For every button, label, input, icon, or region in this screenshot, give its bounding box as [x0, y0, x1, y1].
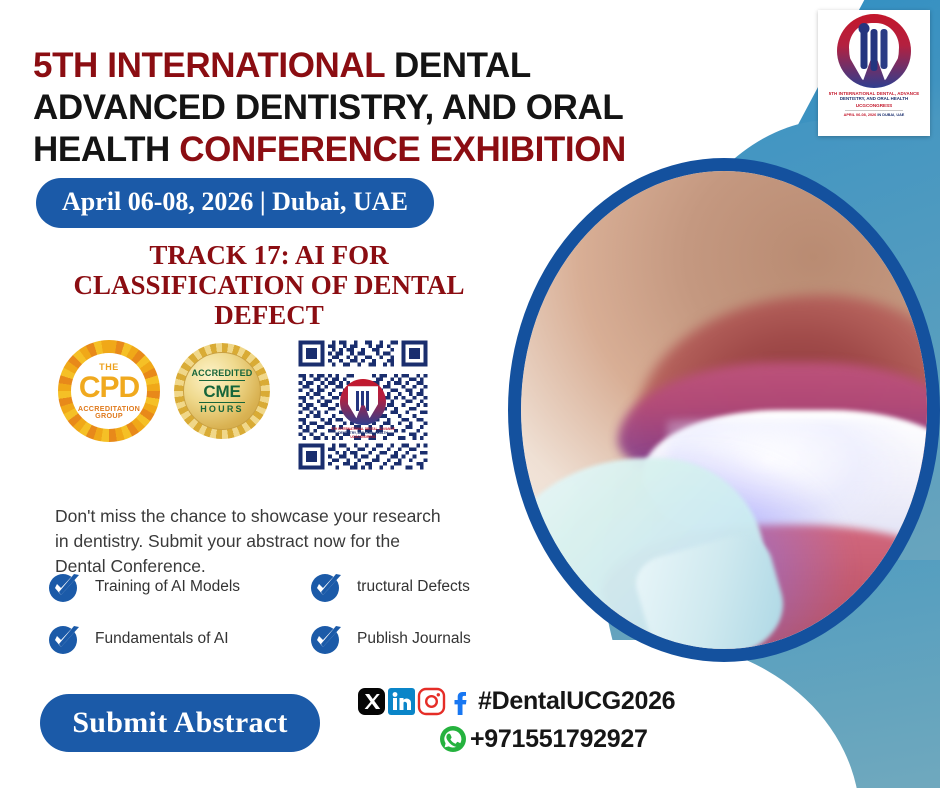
- title-part-red-1: 5TH INTERNATIONAL: [33, 46, 385, 85]
- qr-tooth-icon: [348, 386, 378, 418]
- social-links: #DentalUCG2026: [357, 686, 675, 716]
- logo-place: IN DUBAI, UAE: [877, 113, 904, 117]
- x-icon[interactable]: [357, 686, 387, 716]
- logo-line-4: APRIL 06-08, 2026 IN DUBAI, UAE: [844, 113, 905, 117]
- whatsapp-contact: +971551792927: [438, 724, 648, 754]
- phone-number: +971551792927: [470, 725, 648, 754]
- qr-center-logo: [340, 379, 386, 425]
- cme-accredited-label: ACCREDITED: [191, 369, 252, 378]
- accreditation-badges: THE CPD ACCREDITATION GROUP ACCREDITED C…: [58, 340, 270, 442]
- list-item: Publish Journals: [308, 620, 518, 658]
- facebook-icon[interactable]: [447, 686, 477, 716]
- logo-date: APRIL 06-08, 2026: [844, 113, 878, 117]
- feature-checklist: Training of AI Models tructural Defects: [46, 568, 516, 658]
- logo-divider: [845, 110, 903, 111]
- title-part-black-1: DENTAL: [394, 46, 530, 85]
- list-item-label: Fundamentals of AI: [95, 630, 229, 648]
- qr-code[interactable]: 5TH INTERNATIONAL DENTAL, ADVANCE DENTIS…: [295, 337, 431, 473]
- cme-hours-label: HOURS: [200, 405, 244, 414]
- list-item-label: Training of AI Models: [95, 578, 240, 596]
- title-part-red-2: CONFERENCE EXHIBITION: [179, 130, 626, 169]
- qr-caption-line-3: UCGCONGRESS: [317, 435, 409, 439]
- cpd-main-label: CPD: [79, 373, 139, 403]
- whatsapp-icon[interactable]: [438, 724, 468, 754]
- logo-line-2: DENTISTRY, AND ORAL HEALTH: [840, 97, 908, 102]
- cme-divider-top: [199, 380, 245, 381]
- submit-abstract-button[interactable]: Submit Abstract: [40, 694, 320, 752]
- list-item: Training of AI Models: [46, 568, 308, 606]
- dental-treatment-photo: [508, 158, 940, 662]
- list-item: tructural Defects: [308, 568, 518, 606]
- cme-badge-inner: ACCREDITED CME HOURS: [183, 352, 261, 430]
- track-title: TRACK 17: AI FOR CLASSIFICATION OF DENTA…: [34, 240, 504, 331]
- check-icon: [46, 620, 84, 658]
- cme-accreditation-badge: ACCREDITED CME HOURS: [174, 343, 270, 439]
- photo-inner: [521, 171, 927, 649]
- date-location-badge: April 06-08, 2026 | Dubai, UAE: [36, 178, 434, 228]
- check-icon: [308, 620, 346, 658]
- linkedin-icon[interactable]: [387, 686, 417, 716]
- list-item-label: Publish Journals: [357, 630, 471, 648]
- cme-main-label: CME: [203, 383, 240, 400]
- check-icon: [46, 568, 84, 606]
- logo-line-3: UCGCONGRESS: [856, 103, 893, 108]
- hashtag-text: #DentalUCG2026: [478, 687, 675, 716]
- list-item-label: tructural Defects: [357, 578, 470, 596]
- cpd-group-label: GROUP: [95, 412, 123, 419]
- logo-emblem: [837, 14, 911, 88]
- check-icon: [308, 568, 346, 606]
- conference-logo-card: 5TH INTERNATIONAL DENTAL, ADVANCE DENTIS…: [818, 10, 930, 136]
- instagram-icon[interactable]: [417, 686, 447, 716]
- title-part-black-2: ADVANCED DENTISTRY, AND ORAL: [33, 88, 623, 127]
- cme-divider-bottom: [199, 402, 245, 403]
- dental-instruments-icon: [861, 29, 888, 71]
- page-title: 5TH INTERNATIONAL DENTAL ADVANCED DENTIS…: [33, 45, 693, 171]
- qr-logo-caption: 5TH INTERNATIONAL DENTAL, ADVANCE DENTIS…: [317, 427, 409, 439]
- title-part-black-3: HEALTH: [33, 130, 170, 169]
- conference-poster: 5TH INTERNATIONAL DENTAL, ADVANCE DENTIS…: [0, 0, 940, 788]
- cpd-badge-inner: THE CPD ACCREDITATION GROUP: [71, 353, 147, 429]
- cpd-accreditation-badge: THE CPD ACCREDITATION GROUP: [58, 340, 160, 442]
- list-item: Fundamentals of AI: [46, 620, 308, 658]
